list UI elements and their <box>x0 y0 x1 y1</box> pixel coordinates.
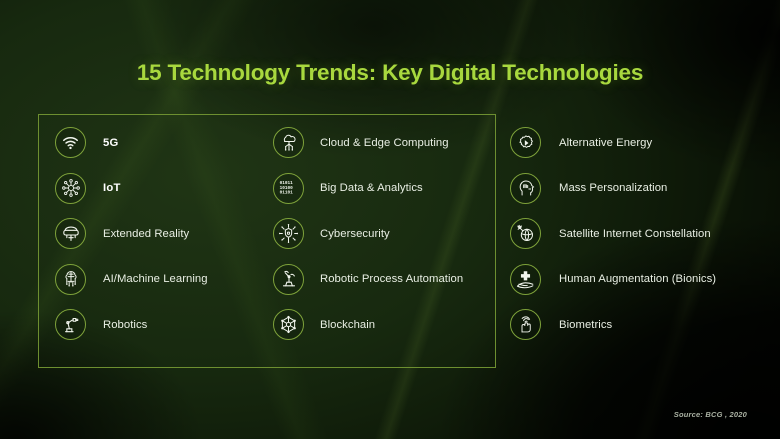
head-profile-icon <box>510 173 541 204</box>
vr-headset-icon <box>55 218 86 249</box>
robot-arm-icon <box>55 309 86 340</box>
shield-lock-icon <box>273 218 304 249</box>
gear-power-icon <box>510 127 541 158</box>
list-item-label: Human Augmentation (Bionics) <box>559 273 716 285</box>
fingerprint-hand-icon <box>510 309 541 340</box>
list-item-label: Alternative Energy <box>559 137 652 149</box>
list-item[interactable]: Alternative Energy <box>510 120 716 166</box>
slide-canvas: 15 Technology Trends: Key Digital Techno… <box>0 0 780 439</box>
list-item-label: Cloud & Edge Computing <box>320 137 449 149</box>
list-item-label: IoT <box>103 182 121 194</box>
network-hub-icon <box>55 173 86 204</box>
list-item[interactable]: 01011 10100 01101 Big Data & Analytics <box>273 166 463 212</box>
wifi-icon <box>55 127 86 158</box>
list-item-label: Extended Reality <box>103 228 189 240</box>
list-item[interactable]: Cloud & Edge Computing <box>273 120 463 166</box>
list-item-label: Big Data & Analytics <box>320 182 423 194</box>
list-item[interactable]: Extended Reality <box>55 211 208 257</box>
list-item-label: AI/Machine Learning <box>103 273 208 285</box>
brain-circuit-icon <box>55 264 86 295</box>
list-item-label: Biometrics <box>559 319 612 331</box>
list-item[interactable]: Robotics <box>55 302 208 348</box>
list-item[interactable]: Blockchain <box>273 302 463 348</box>
list-item[interactable]: Satellite Internet Constellation <box>510 211 716 257</box>
column-2: Cloud & Edge Computing 01011 10100 01101… <box>273 120 463 348</box>
robotic-process-icon <box>273 264 304 295</box>
list-item[interactable]: 5G <box>55 120 208 166</box>
list-item-label: Cybersecurity <box>320 228 390 240</box>
blockchain-nodes-icon <box>273 309 304 340</box>
list-item[interactable]: Biometrics <box>510 302 716 348</box>
list-item-label: Mass Personalization <box>559 182 667 194</box>
list-item[interactable]: Robotic Process Automation <box>273 257 463 303</box>
list-item-label: Blockchain <box>320 319 375 331</box>
column-3: Alternative Energy Mass Personalization <box>510 120 716 348</box>
medical-cross-hand-icon <box>510 264 541 295</box>
satellite-globe-icon <box>510 218 541 249</box>
list-item-label: Satellite Internet Constellation <box>559 228 711 240</box>
list-item[interactable]: IoT <box>55 166 208 212</box>
list-item[interactable]: Human Augmentation (Bionics) <box>510 257 716 303</box>
binary-digits-icon: 01011 10100 01101 <box>273 173 304 204</box>
list-item-label: Robotics <box>103 319 147 331</box>
list-item-label: 5G <box>103 137 118 149</box>
column-1: 5G IoT <box>55 120 208 348</box>
page-title: 15 Technology Trends: Key Digital Techno… <box>0 60 780 86</box>
cloud-network-icon <box>273 127 304 158</box>
list-item-label: Robotic Process Automation <box>320 273 463 285</box>
list-item[interactable]: Mass Personalization <box>510 166 716 212</box>
list-item[interactable]: Cybersecurity <box>273 211 463 257</box>
svg-text:01101: 01101 <box>280 191 293 196</box>
list-item[interactable]: AI/Machine Learning <box>55 257 208 303</box>
source-attribution: Source: BCG , 2020 <box>674 410 747 419</box>
